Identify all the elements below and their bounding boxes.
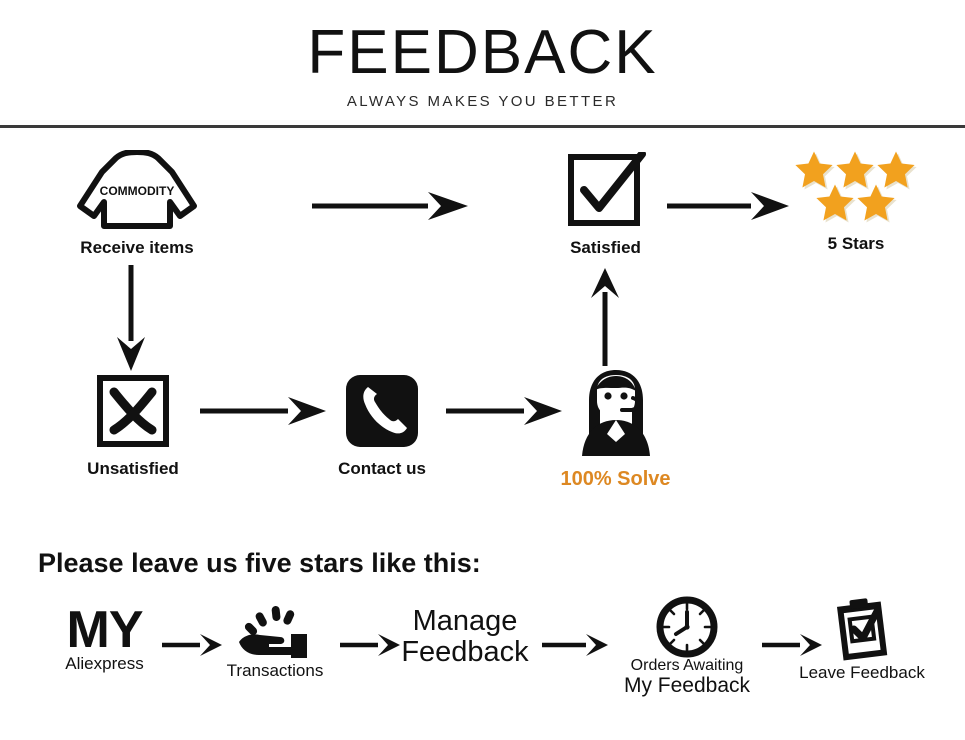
step-transactions: Transactions xyxy=(210,606,340,680)
flow-node-satisfied: Satisfied xyxy=(548,152,663,258)
page-title: FEEDBACK xyxy=(0,0,965,84)
flow-node-solve: 100% Solve xyxy=(528,368,703,491)
flow-node-contact-us: Contact us xyxy=(322,373,442,479)
step-label-my-feedback: My Feedback xyxy=(598,675,776,697)
step-label-feedback: Feedback xyxy=(390,637,540,668)
arrow-solve-to-satisfied xyxy=(586,268,624,373)
page-subtitle: ALWAYS MAKES YOU BETTER xyxy=(0,84,965,110)
step-label-aliexpress: Aliexpress xyxy=(42,655,167,673)
checkbox-x-icon xyxy=(68,373,198,451)
clock-icon xyxy=(598,596,776,658)
step-orders-awaiting: Orders Awaiting My Feedback xyxy=(598,596,776,697)
clipboard-check-icon xyxy=(782,596,942,664)
step-label-leave-feedback: Leave Feedback xyxy=(782,664,942,682)
sweater-commodity-icon: COMMODITY xyxy=(62,150,212,230)
arrow-satisfied-to-stars xyxy=(665,188,791,229)
flow-node-unsatisfied: Unsatisfied xyxy=(68,373,198,479)
my-aliexpress-wordmark: MY xyxy=(42,606,167,655)
flow-label-contact-us: Contact us xyxy=(322,459,442,479)
step-leave-feedback: Leave Feedback xyxy=(782,596,942,682)
checkbox-check-icon xyxy=(548,152,663,230)
phone-icon xyxy=(322,373,442,451)
arrow-receive-to-satisfied xyxy=(310,188,470,229)
arrow-receive-to-unsatisfied xyxy=(112,263,150,378)
step-my-aliexpress: MY Aliexpress xyxy=(42,606,167,673)
step-manage-feedback: Manage Feedback xyxy=(390,606,540,669)
flow-label-unsatisfied: Unsatisfied xyxy=(68,459,198,479)
flow-label-five-stars: 5 Stars xyxy=(790,234,922,254)
flow-label-solve: 100% Solve xyxy=(528,468,703,491)
bottom-heading: Please leave us five stars like this: xyxy=(38,548,481,579)
step-label-orders-awaiting: Orders Awaiting xyxy=(598,658,776,675)
flow-label-satisfied: Satisfied xyxy=(548,238,663,258)
five-stars-icon xyxy=(790,148,922,226)
feedback-flow-diagram: COMMODITY Receive items Satisfied xyxy=(0,128,965,520)
step-label-manage: Manage xyxy=(390,606,540,637)
feedback-instruction-graphic: FEEDBACK ALWAYS MAKES YOU BETTER COMMODI… xyxy=(0,0,965,740)
step-label-transactions: Transactions xyxy=(210,662,340,680)
header: FEEDBACK ALWAYS MAKES YOU BETTER xyxy=(0,0,965,125)
leave-feedback-steps: Please leave us five stars like this: MY… xyxy=(0,528,965,740)
flow-node-receive-items: COMMODITY Receive items xyxy=(62,150,212,258)
hand-coins-icon xyxy=(210,606,340,662)
arrow-unsatisfied-to-contact xyxy=(198,393,328,434)
flow-label-receive-items: Receive items xyxy=(62,238,212,258)
sweater-icon-text: COMMODITY xyxy=(100,184,175,198)
support-agent-icon xyxy=(528,368,703,460)
flow-node-five-stars: 5 Stars xyxy=(790,148,922,254)
